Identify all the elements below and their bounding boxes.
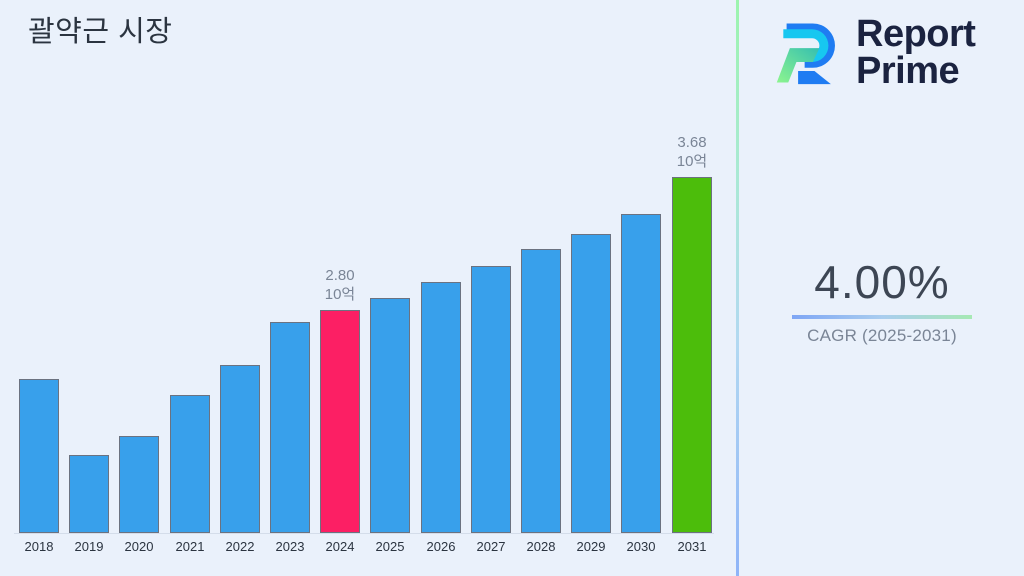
bar-group-2028: 2028: [521, 0, 561, 576]
bar-2025[interactable]: [370, 298, 410, 533]
cagr-divider-rule: [792, 315, 972, 319]
bar-2020[interactable]: [119, 436, 159, 533]
bar-group-2031: 3.68 10억2031: [672, 0, 712, 576]
bar-2021[interactable]: [170, 395, 210, 533]
bar-group-2027: 2027: [471, 0, 511, 576]
bar-group-2022: 2022: [220, 0, 260, 576]
bar-group-2020: 2020: [119, 0, 159, 576]
brand-panel: Report Prime 4.00% CAGR (2025-2031): [740, 0, 1024, 576]
bar-2023[interactable]: [270, 322, 310, 533]
bar-value-label-2031: 3.68 10억: [647, 133, 737, 171]
bar-group-2018: 2018: [19, 0, 59, 576]
bar-group-2030: 2030: [621, 0, 661, 576]
bar-2022[interactable]: [220, 365, 260, 533]
bar-2029[interactable]: [571, 234, 611, 533]
cagr-block: 4.00% CAGR (2025-2031): [740, 255, 1024, 346]
bar-group-2029: 2029: [571, 0, 611, 576]
bar-2030[interactable]: [621, 214, 661, 533]
bar-group-2026: 2026: [421, 0, 461, 576]
bar-group-2025: 2025: [370, 0, 410, 576]
bar-2024[interactable]: [320, 310, 360, 533]
bar-group-2019: 2019: [69, 0, 109, 576]
report-prime-logo-icon: [762, 12, 844, 94]
bar-group-2024: 2.80 10억2024: [320, 0, 360, 576]
bar-2019[interactable]: [69, 455, 109, 533]
bar-2031[interactable]: [672, 177, 712, 533]
cagr-value: 4.00%: [740, 255, 1024, 309]
chart-panel: 괄약근 시장 2018201920202021202220232.80 10억2…: [0, 0, 737, 576]
x-tick-label-2031: 2031: [662, 539, 722, 554]
bar-2026[interactable]: [421, 282, 461, 533]
bar-chart-plot: 2018201920202021202220232.80 10억20242025…: [0, 0, 737, 576]
bar-2018[interactable]: [19, 379, 59, 533]
cagr-caption: CAGR (2025-2031): [740, 326, 1024, 346]
brand-name-line2: Prime: [856, 53, 975, 90]
brand-logo: Report Prime: [762, 12, 975, 94]
brand-name: Report Prime: [856, 16, 975, 90]
bar-2027[interactable]: [471, 266, 511, 533]
bar-group-2021: 2021: [170, 0, 210, 576]
panel-divider: [736, 0, 739, 576]
brand-name-line1: Report: [856, 16, 975, 53]
screenshot-root: 괄약근 시장 2018201920202021202220232.80 10억2…: [0, 0, 1024, 576]
bar-2028[interactable]: [521, 249, 561, 533]
